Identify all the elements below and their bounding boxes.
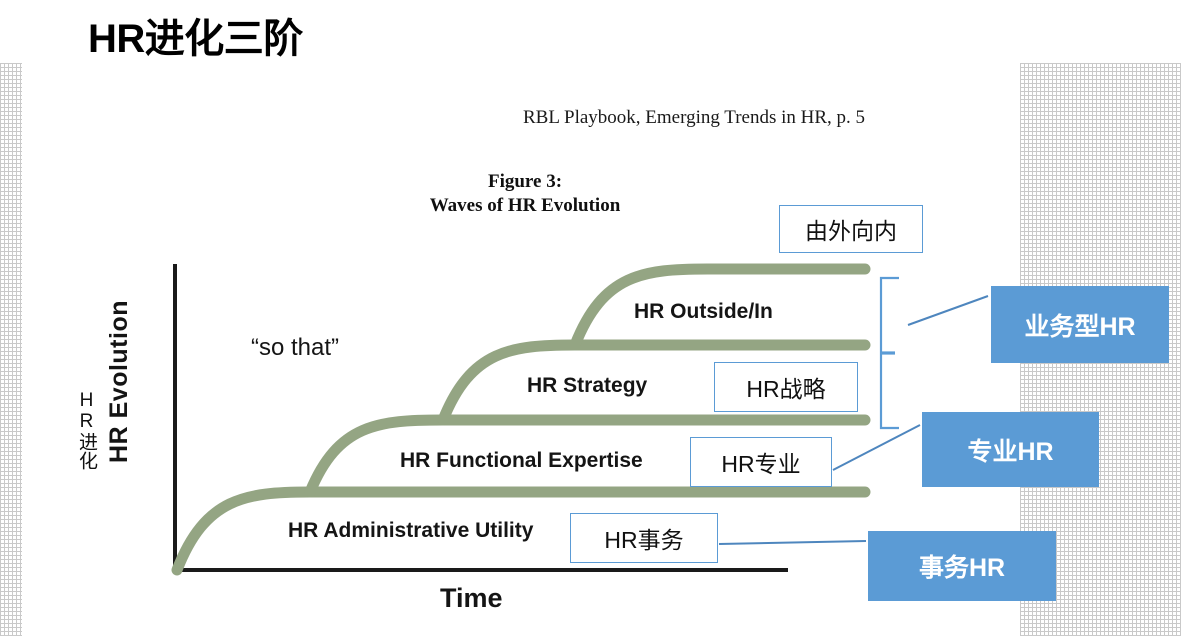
slide-canvas: HR进化三阶 RBL Playbook, Emerging Trends in … (0, 0, 1181, 636)
y-axis-title-chinese: HR进化 (70, 390, 98, 470)
stage-box-administrative-hr: 事务HR (868, 531, 1056, 601)
wave-label-strategy: HR Strategy (527, 374, 647, 398)
callout-outside-in: 由外向内 (779, 205, 923, 253)
x-axis-title: Time (440, 583, 503, 614)
source-citation: RBL Playbook, Emerging Trends in HR, p. … (523, 107, 865, 129)
so-that-annotation: “so that” (251, 334, 339, 362)
callout-hr-professional: HR专业 (690, 437, 832, 487)
stage-box-professional-hr: 专业HR (922, 412, 1099, 487)
wave-label-outside-in: HR Outside/In (634, 300, 773, 324)
wave-label-functional-expertise: HR Functional Expertise (400, 449, 643, 473)
callout-hr-strategy: HR战略 (714, 362, 858, 412)
figure-caption-line-1: Figure 3: (400, 170, 650, 194)
y-axis-title: HR Evolution (105, 300, 134, 463)
callout-hr-administrative: HR事务 (570, 513, 718, 563)
figure-caption: Figure 3: Waves of HR Evolution (400, 170, 650, 218)
figure-caption-line-2: Waves of HR Evolution (400, 194, 650, 218)
page-title: HR进化三阶 (88, 6, 303, 64)
stage-box-business-hr: 业务型HR (991, 286, 1169, 363)
wave-label-administrative-utility: HR Administrative Utility (288, 519, 533, 543)
